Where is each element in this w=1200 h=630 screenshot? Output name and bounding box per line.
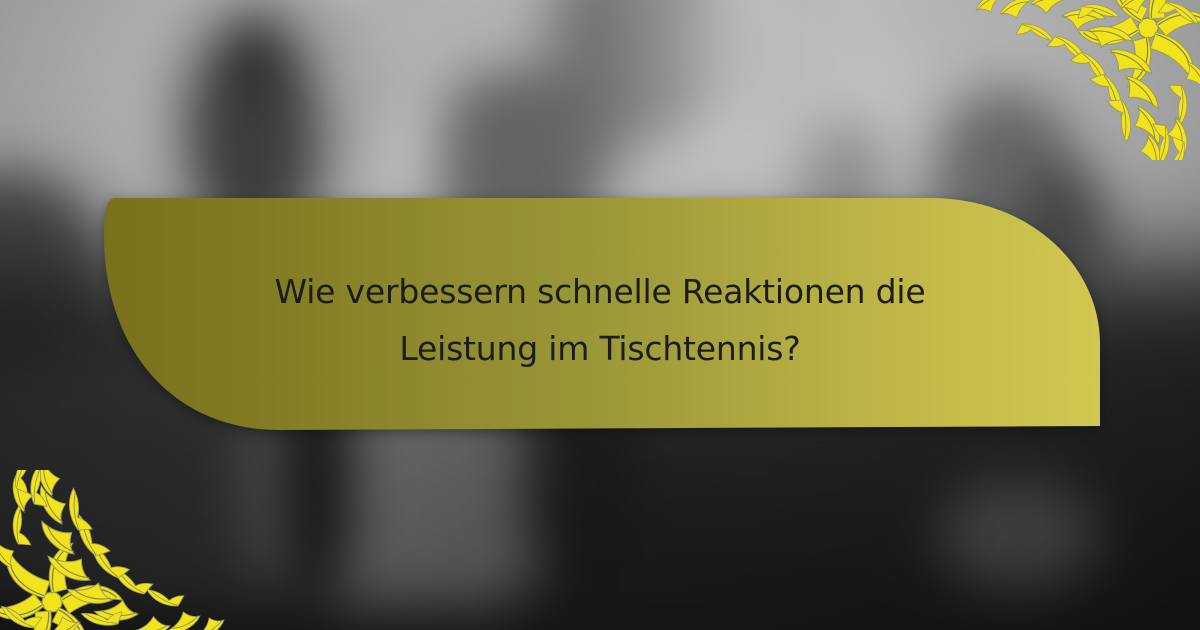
headline-line-1: Wie verbessern schnelle Reaktionen die bbox=[274, 263, 925, 320]
share-card: Wie verbessern schnelle Reaktionen die L… bbox=[0, 0, 1200, 630]
headline-line-2: Leistung im Tischtennis? bbox=[399, 320, 800, 377]
question-headline: Wie verbessern schnelle Reaktionen die L… bbox=[150, 196, 1050, 430]
